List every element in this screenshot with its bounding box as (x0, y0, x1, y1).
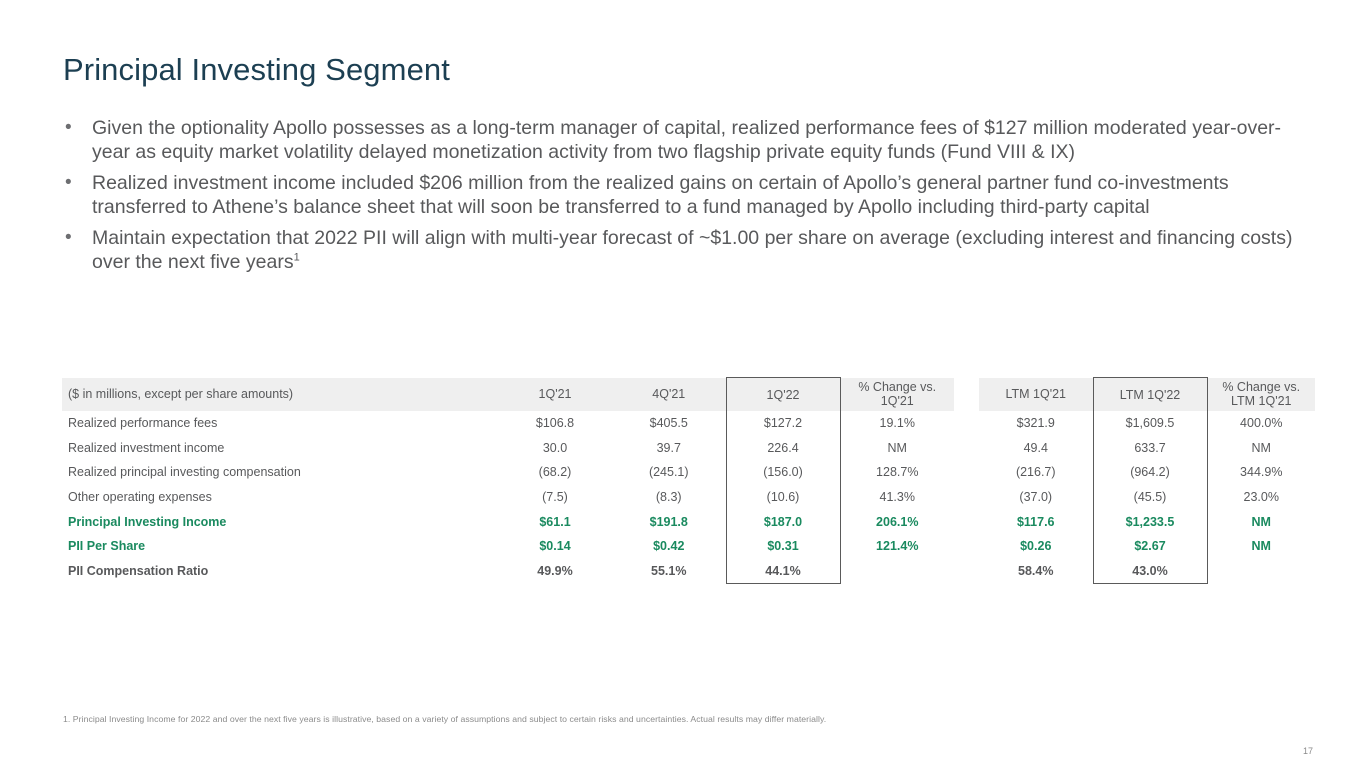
table-cell: 58.4% (979, 559, 1093, 584)
row-label: PII Per Share (62, 534, 498, 559)
table-cell: (45.5) (1093, 485, 1207, 510)
table-cell: 43.0% (1093, 559, 1207, 584)
table-cell: 39.7 (612, 436, 726, 461)
table-cell: $191.8 (612, 509, 726, 534)
page-title: Principal Investing Segment (63, 52, 450, 88)
table-cell: (37.0) (979, 485, 1093, 510)
table-cell: 49.4 (979, 436, 1093, 461)
table-cell-gap (954, 411, 979, 436)
row-label: Realized performance fees (62, 411, 498, 436)
table-cell: $0.31 (726, 534, 840, 559)
table-header: ($ in millions, except per share amounts… (62, 378, 1315, 412)
table-cell: $187.0 (726, 509, 840, 534)
table-cell: $2.67 (1093, 534, 1207, 559)
table-cell: 49.9% (498, 559, 612, 584)
bullet-marker-icon: • (63, 171, 92, 195)
table-cell: $0.42 (612, 534, 726, 559)
column-header: LTM 1Q'22 (1093, 378, 1207, 412)
table-cell: 226.4 (726, 436, 840, 461)
table-cell: NM (1207, 509, 1315, 534)
table-cell: (8.3) (612, 485, 726, 510)
table-row: Realized performance fees$106.8$405.5$12… (62, 411, 1315, 436)
table-cell: 344.9% (1207, 460, 1315, 485)
column-header-line2: 1Q'21 (841, 394, 955, 408)
footnote-reference: 1 (294, 252, 300, 264)
table-cell: 400.0% (1207, 411, 1315, 436)
table-cell: NM (840, 436, 954, 461)
table-row: Realized investment income30.039.7226.4N… (62, 436, 1315, 461)
table-cell: $1,609.5 (1093, 411, 1207, 436)
table-cell: $61.1 (498, 509, 612, 534)
row-label: Realized principal investing compensatio… (62, 460, 498, 485)
table-cell: (245.1) (612, 460, 726, 485)
table-cell: 41.3% (840, 485, 954, 510)
table-cell: $0.26 (979, 534, 1093, 559)
table-cell (1207, 559, 1315, 584)
financial-table: ($ in millions, except per share amounts… (62, 377, 1315, 584)
table-cell: NM (1207, 534, 1315, 559)
column-header-line1: % Change vs. (1208, 380, 1316, 394)
column-header: 4Q'21 (612, 378, 726, 412)
table-cell: 633.7 (1093, 436, 1207, 461)
table-cell: $405.5 (612, 411, 726, 436)
bullet-item: •Given the optionality Apollo possesses … (63, 116, 1318, 164)
table-cell: NM (1207, 436, 1315, 461)
table-cell: (156.0) (726, 460, 840, 485)
footnote: 1. Principal Investing Income for 2022 a… (63, 713, 826, 725)
row-label: Other operating expenses (62, 485, 498, 510)
page-number: 17 (1303, 746, 1313, 756)
table-caption: ($ in millions, except per share amounts… (62, 378, 498, 412)
column-header-line1: % Change vs. (841, 380, 955, 394)
row-label: Realized investment income (62, 436, 498, 461)
row-label: PII Compensation Ratio (62, 559, 498, 584)
table-cell: 128.7% (840, 460, 954, 485)
table-cell: $106.8 (498, 411, 612, 436)
table-cell-gap (954, 509, 979, 534)
table-cell: (7.5) (498, 485, 612, 510)
bullet-marker-icon: • (63, 226, 92, 250)
table-cell: 30.0 (498, 436, 612, 461)
bullet-text: Maintain expectation that 2022 PII will … (92, 226, 1318, 274)
column-header: 1Q'21 (498, 378, 612, 412)
table-row: Other operating expenses(7.5)(8.3)(10.6)… (62, 485, 1315, 510)
financial-table-container: ($ in millions, except per share amounts… (62, 377, 1315, 584)
row-label: Principal Investing Income (62, 509, 498, 534)
table-cell-gap (954, 436, 979, 461)
table-cell-gap (954, 460, 979, 485)
table-cell-gap (954, 559, 979, 584)
table-cell: 44.1% (726, 559, 840, 584)
bullet-item: •Maintain expectation that 2022 PII will… (63, 226, 1318, 274)
table-cell: 19.1% (840, 411, 954, 436)
column-header: 1Q'22 (726, 378, 840, 412)
table-cell: $127.2 (726, 411, 840, 436)
table-header-gap (954, 378, 979, 412)
table-cell: (964.2) (1093, 460, 1207, 485)
table-body: Realized performance fees$106.8$405.5$12… (62, 411, 1315, 584)
bullet-marker-icon: • (63, 116, 92, 140)
column-header: % Change vs.LTM 1Q'21 (1207, 378, 1315, 412)
bullet-list: •Given the optionality Apollo possesses … (63, 116, 1318, 281)
table-cell: 55.1% (612, 559, 726, 584)
table-cell: (216.7) (979, 460, 1093, 485)
table-row: PII Per Share$0.14$0.42$0.31121.4%$0.26$… (62, 534, 1315, 559)
table-cell: 23.0% (1207, 485, 1315, 510)
table-cell: 206.1% (840, 509, 954, 534)
table-cell: (10.6) (726, 485, 840, 510)
table-cell: $117.6 (979, 509, 1093, 534)
column-header: % Change vs.1Q'21 (840, 378, 954, 412)
table-cell-gap (954, 534, 979, 559)
table-cell: 121.4% (840, 534, 954, 559)
column-header: LTM 1Q'21 (979, 378, 1093, 412)
table-cell: $321.9 (979, 411, 1093, 436)
table-row: Realized principal investing compensatio… (62, 460, 1315, 485)
table-row: PII Compensation Ratio49.9%55.1%44.1%58.… (62, 559, 1315, 584)
table-header-row: ($ in millions, except per share amounts… (62, 378, 1315, 412)
table-cell: $0.14 (498, 534, 612, 559)
bullet-text: Given the optionality Apollo possesses a… (92, 116, 1318, 164)
table-cell (840, 559, 954, 584)
bullet-text: Realized investment income included $206… (92, 171, 1318, 219)
table-row: Principal Investing Income$61.1$191.8$18… (62, 509, 1315, 534)
bullet-item: •Realized investment income included $20… (63, 171, 1318, 219)
table-cell: $1,233.5 (1093, 509, 1207, 534)
column-header-line2: LTM 1Q'21 (1208, 394, 1316, 408)
table-cell: (68.2) (498, 460, 612, 485)
table-cell-gap (954, 485, 979, 510)
